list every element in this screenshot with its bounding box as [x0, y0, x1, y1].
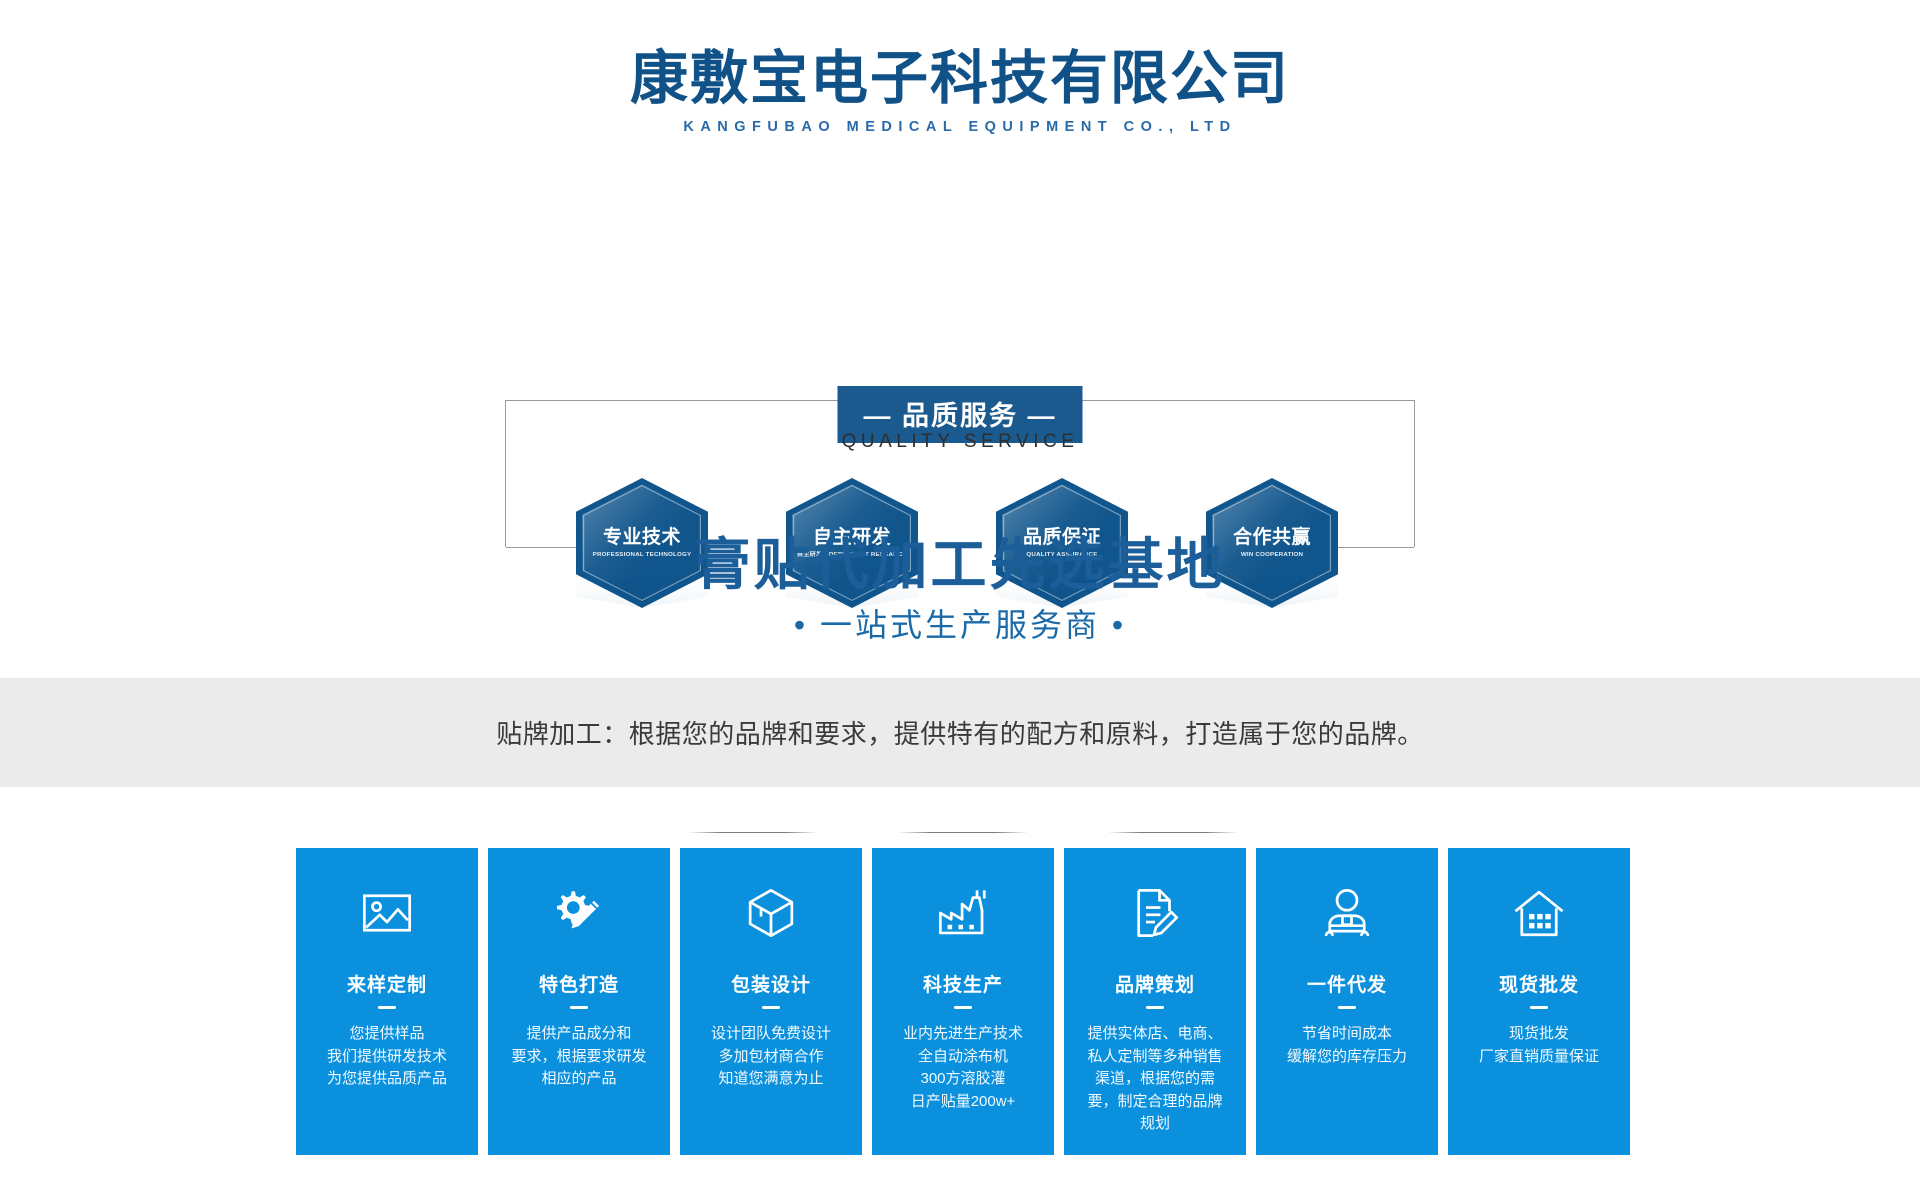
image-icon	[358, 884, 416, 942]
card-divider	[1530, 1006, 1548, 1009]
card-divider	[570, 1006, 588, 1009]
card-title: 特色打造	[539, 970, 619, 997]
card-divider	[1338, 1006, 1356, 1009]
hexagon-connector-2	[898, 832, 1028, 833]
card-title: 包装设计	[731, 970, 811, 997]
company-name-cn: 康敷宝电子科技有限公司	[0, 46, 1920, 113]
feature-card-dropshipping[interactable]: 一件代发 节省时间成本缓解您的库存压力	[1256, 848, 1438, 1155]
card-title: 品牌策划	[1115, 970, 1195, 997]
notice-band-text: 贴牌加工：根据您的品牌和要求，提供特有的配方和原料，打造属于您的品牌。	[496, 714, 1424, 751]
feature-card-special-creation[interactable]: 特色打造 提供产品成分和要求，根据要求研发相应的产品	[488, 848, 670, 1155]
card-description: 节省时间成本缓解您的库存压力	[1268, 1023, 1426, 1068]
feature-card-packaging-design[interactable]: 包装设计 设计团队免费设计多加包材商合作知道您满意为止	[680, 848, 862, 1155]
hexagon-connector-1	[688, 832, 818, 833]
card-divider	[1146, 1006, 1164, 1009]
card-description: 现货批发厂家直销质量保证	[1460, 1023, 1618, 1068]
card-title: 来样定制	[347, 970, 427, 997]
card-description: 您提供样品我们提供研发技术为您提供品质产品	[308, 1023, 466, 1091]
quality-service-section: — 品质服务 — QUALITY SERVICE 专业技术 PROFESSION…	[0, 188, 1920, 418]
card-description: 提供实体店、电商、私人定制等多种销售渠道，根据您的需要，制定合理的品牌规划	[1076, 1023, 1234, 1136]
card-divider	[762, 1006, 780, 1009]
feature-card-brand-planning[interactable]: 品牌策划 提供实体店、电商、私人定制等多种销售渠道，根据您的需要，制定合理的品牌…	[1064, 848, 1246, 1155]
card-divider	[954, 1006, 972, 1009]
quality-service-badge-en: QUALITY SERVICE	[842, 431, 1079, 453]
card-title: 一件代发	[1307, 970, 1387, 997]
page-root: 康敷宝电子科技有限公司 KANGFUBAO MEDICAL EQUIPMENT …	[0, 0, 1920, 1178]
card-title: 现货批发	[1499, 970, 1579, 997]
delivery-person-icon	[1318, 884, 1376, 942]
gear-pencil-icon	[550, 884, 608, 942]
card-description: 设计团队免费设计多加包材商合作知道您满意为止	[692, 1023, 850, 1091]
feature-card-list: 来样定制 您提供样品我们提供研发技术为您提供品质产品 特色打造 提供产品成分和要…	[296, 848, 1630, 1155]
card-description: 业内先进生产技术全自动涂布机300方溶胶灌日产贴量200w+	[884, 1023, 1042, 1113]
document-pencil-icon	[1126, 884, 1184, 942]
notice-band: 贴牌加工：根据您的品牌和要求，提供特有的配方和原料，打造属于您的品牌。	[0, 678, 1920, 787]
card-title: 科技生产	[923, 970, 1003, 997]
card-description: 提供产品成分和要求，根据要求研发相应的产品	[500, 1023, 658, 1091]
card-divider	[378, 1006, 396, 1009]
brand-header: 康敷宝电子科技有限公司 KANGFUBAO MEDICAL EQUIPMENT …	[0, 46, 1920, 135]
feature-card-sample-customization[interactable]: 来样定制 您提供样品我们提供研发技术为您提供品质产品	[296, 848, 478, 1155]
page-subtitle: • 一站式生产服务商 •	[0, 600, 1920, 646]
feature-card-tech-production[interactable]: 科技生产 业内先进生产技术全自动涂布机300方溶胶灌日产贴量200w+	[872, 848, 1054, 1155]
company-name-en: KANGFUBAO MEDICAL EQUIPMENT CO., LTD	[0, 119, 1920, 135]
factory-icon	[934, 884, 992, 942]
hexagon-connector-3	[1108, 832, 1238, 833]
page-title: 膏贴代加工先选基地	[0, 520, 1920, 601]
box-icon	[742, 884, 800, 942]
warehouse-icon	[1510, 884, 1568, 942]
feature-card-stock-wholesale[interactable]: 现货批发 现货批发厂家直销质量保证	[1448, 848, 1630, 1155]
